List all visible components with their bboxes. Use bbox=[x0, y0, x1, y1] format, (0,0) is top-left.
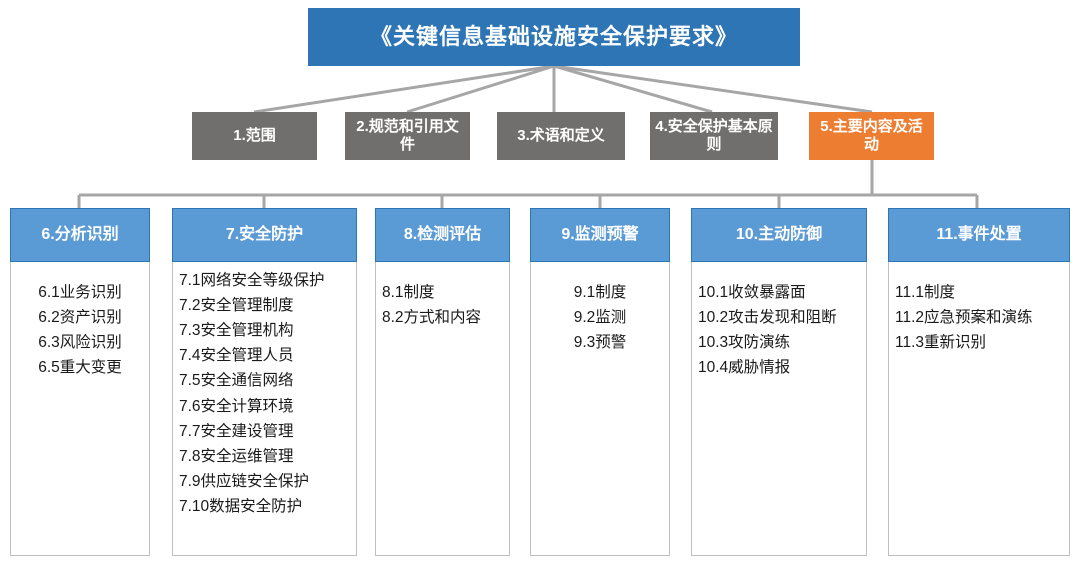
column-item: 11.2应急预案和演练 bbox=[895, 305, 1063, 330]
section-box-2[interactable]: 2.规范和引用文件 bbox=[345, 112, 470, 160]
column-item: 7.10数据安全防护 bbox=[179, 494, 350, 519]
column-header-text-7: 7.安全防护 bbox=[226, 226, 303, 244]
column-item: 7.7安全建设管理 bbox=[179, 419, 350, 444]
connector-title-to-sec-2 bbox=[407, 66, 554, 112]
section-box-5[interactable]: 5.主要内容及活动 bbox=[809, 112, 934, 160]
column-card-9[interactable]: 9.监测预警 9.1制度 9.2监测 9.3预警 bbox=[530, 208, 670, 556]
column-body-7: 7.1网络安全等级保护 7.2安全管理制度 7.3安全管理机构 7.4安全管理人… bbox=[172, 262, 357, 556]
column-header-6: 6.分析识别 bbox=[10, 208, 150, 262]
org-chart-diagram: 《关键信息基础设施安全保护要求》 1.范围 2.规范和引用文件 3.术语和定义 … bbox=[0, 0, 1080, 574]
column-item: 10.3攻防演练 bbox=[698, 330, 860, 355]
column-item: 6.5重大变更 bbox=[17, 355, 143, 380]
column-body-6: 6.1业务识别 6.2资产识别 6.3风险识别 6.5重大变更 bbox=[10, 262, 150, 556]
diagram-title-box: 《关键信息基础设施安全保护要求》 bbox=[308, 8, 800, 66]
column-header-7: 7.安全防护 bbox=[172, 208, 357, 262]
column-header-11: 11.事件处置 bbox=[888, 208, 1070, 262]
column-header-text-8: 8.检测评估 bbox=[404, 226, 481, 244]
connector-title-to-sec-5 bbox=[554, 66, 872, 112]
section-label-2: 2.规范和引用文件 bbox=[349, 118, 466, 153]
section-label-4: 4.安全保护基本原则 bbox=[654, 118, 774, 153]
connector-title-to-sec-1 bbox=[254, 66, 554, 112]
column-item: 6.3风险识别 bbox=[17, 330, 143, 355]
section-box-3[interactable]: 3.术语和定义 bbox=[497, 112, 625, 160]
column-item: 9.2监测 bbox=[537, 305, 663, 330]
section-box-4[interactable]: 4.安全保护基本原则 bbox=[650, 112, 778, 160]
column-card-8[interactable]: 8.检测评估 8.1制度 8.2方式和内容 bbox=[375, 208, 510, 556]
column-header-text-10: 10.主动防御 bbox=[736, 226, 822, 244]
column-item: 7.9供应链安全保护 bbox=[179, 469, 350, 494]
column-header-8: 8.检测评估 bbox=[375, 208, 510, 262]
column-card-6[interactable]: 6.分析识别 6.1业务识别 6.2资产识别 6.3风险识别 6.5重大变更 bbox=[10, 208, 150, 556]
column-header-text-11: 11.事件处置 bbox=[936, 226, 1021, 244]
column-item: 7.6安全计算环境 bbox=[179, 394, 350, 419]
section-box-1[interactable]: 1.范围 bbox=[192, 112, 317, 160]
column-item: 10.2攻击发现和阻断 bbox=[698, 305, 860, 330]
column-item: 7.8安全运维管理 bbox=[179, 444, 350, 469]
column-body-11: 11.1制度 11.2应急预案和演练 11.3重新识别 bbox=[888, 262, 1070, 556]
column-header-text-6: 6.分析识别 bbox=[41, 226, 118, 244]
column-header-10: 10.主动防御 bbox=[691, 208, 867, 262]
column-item: 7.4安全管理人员 bbox=[179, 343, 350, 368]
section-label-1: 1.范围 bbox=[233, 127, 276, 145]
column-item: 7.3安全管理机构 bbox=[179, 318, 350, 343]
section-label-5: 5.主要内容及活动 bbox=[813, 118, 930, 153]
column-item: 8.1制度 bbox=[382, 280, 503, 305]
column-card-7[interactable]: 7.安全防护 7.1网络安全等级保护 7.2安全管理制度 7.3安全管理机构 7… bbox=[172, 208, 357, 556]
column-item: 7.1网络安全等级保护 bbox=[179, 268, 350, 293]
column-item: 10.4威胁情报 bbox=[698, 355, 860, 380]
column-body-9: 9.1制度 9.2监测 9.3预警 bbox=[530, 262, 670, 556]
column-item: 7.5安全通信网络 bbox=[179, 368, 350, 393]
column-item: 11.1制度 bbox=[895, 280, 1063, 305]
column-item: 7.2安全管理制度 bbox=[179, 293, 350, 318]
column-header-text-9: 9.监测预警 bbox=[561, 226, 638, 244]
connector-title-to-sec-4 bbox=[554, 66, 712, 112]
column-item: 8.2方式和内容 bbox=[382, 305, 503, 330]
column-item: 10.1收敛暴露面 bbox=[698, 280, 860, 305]
column-card-10[interactable]: 10.主动防御 10.1收敛暴露面 10.2攻击发现和阻断 10.3攻防演练 1… bbox=[691, 208, 867, 556]
column-item: 9.3预警 bbox=[537, 330, 663, 355]
column-item: 11.3重新识别 bbox=[895, 330, 1063, 355]
column-body-8: 8.1制度 8.2方式和内容 bbox=[375, 262, 510, 556]
column-header-9: 9.监测预警 bbox=[530, 208, 670, 262]
column-item: 6.1业务识别 bbox=[17, 280, 143, 305]
column-item: 9.1制度 bbox=[537, 280, 663, 305]
diagram-title-text: 《关键信息基础设施安全保护要求》 bbox=[370, 24, 738, 49]
column-body-10: 10.1收敛暴露面 10.2攻击发现和阻断 10.3攻防演练 10.4威胁情报 bbox=[691, 262, 867, 556]
column-item: 6.2资产识别 bbox=[17, 305, 143, 330]
section-label-3: 3.术语和定义 bbox=[517, 127, 605, 145]
column-card-11[interactable]: 11.事件处置 11.1制度 11.2应急预案和演练 11.3重新识别 bbox=[888, 208, 1070, 556]
